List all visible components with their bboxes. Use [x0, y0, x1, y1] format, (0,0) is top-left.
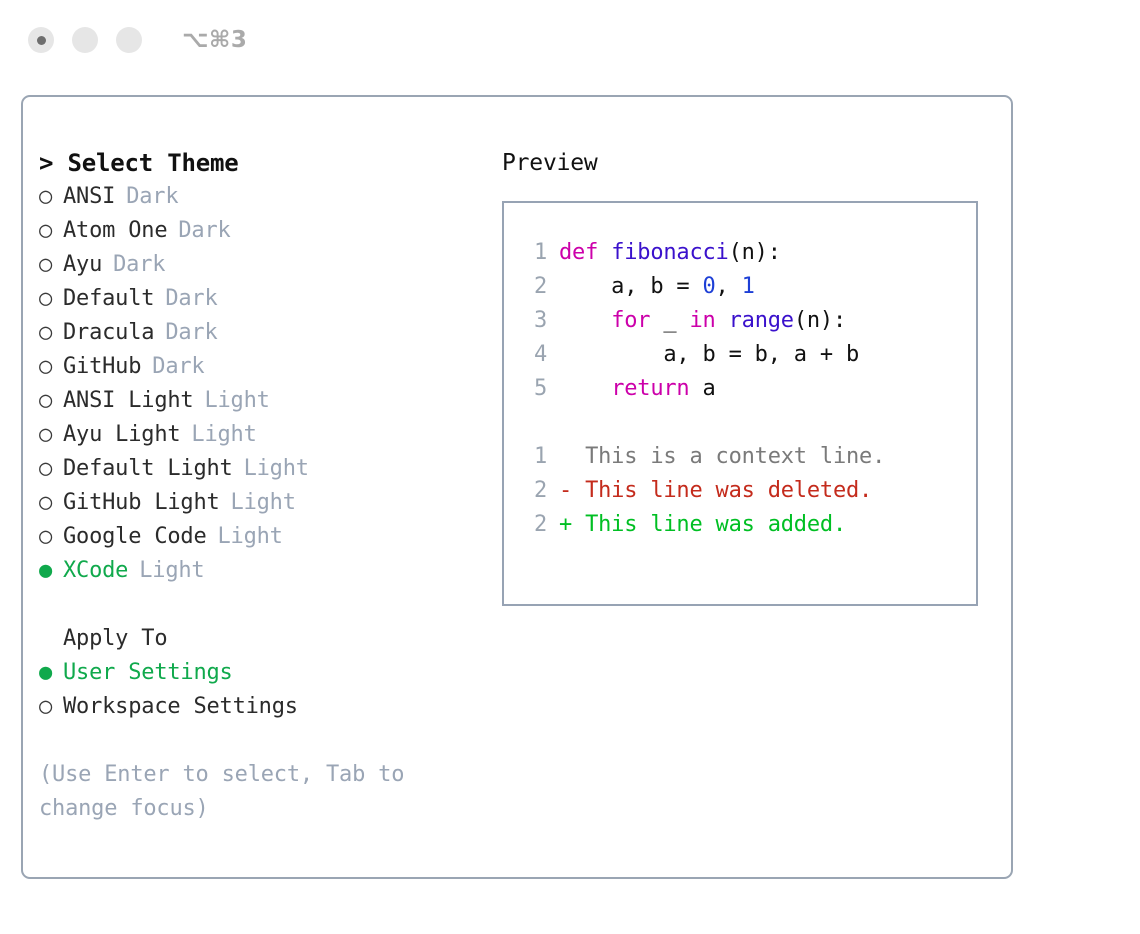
panel-columns: > Select Theme ○ANSIDark○Atom OneDark○Ay… [23, 97, 1011, 877]
diff-line-text: + This line was added. [559, 508, 846, 542]
code-line-text: a, b = b, a + b [559, 338, 859, 372]
code-token-kw: in [689, 308, 715, 333]
diff-line-number: 1 [517, 440, 547, 474]
radio-unselected-icon: ○ [39, 486, 63, 520]
theme-option-xcode[interactable]: ●XCodeLight [39, 554, 489, 588]
theme-option-label: GitHub [63, 350, 141, 384]
radio-unselected-icon: ○ [39, 282, 63, 316]
theme-option-tag: Dark [152, 350, 204, 384]
radio-unselected-icon: ○ [39, 690, 63, 724]
apply-to-option-user-settings[interactable]: ●User Settings [39, 656, 489, 690]
code-token-pun: (n): [794, 308, 846, 333]
preview-column: Preview 1def fibonacci(n):2 a, b = 0, 13… [502, 146, 982, 606]
theme-option-tag: Dark [126, 180, 178, 214]
preview-box: 1def fibonacci(n):2 a, b = 0, 13 for _ i… [502, 201, 978, 606]
theme-option-tag: Dark [165, 282, 217, 316]
code-line-text: return a [559, 372, 716, 406]
diff-line: 2- This line was deleted. [517, 474, 976, 508]
theme-option-github[interactable]: ○GitHubDark [39, 350, 489, 384]
theme-option-atom-one[interactable]: ○Atom OneDark [39, 214, 489, 248]
code-line-number: 5 [517, 372, 547, 406]
theme-option-ansi[interactable]: ○ANSIDark [39, 180, 489, 214]
radio-unselected-icon: ○ [39, 180, 63, 214]
diff-line-text: - This line was deleted. [559, 474, 872, 508]
code-line: 4 a, b = b, a + b [517, 338, 976, 372]
code-token-num: 0 [703, 274, 716, 299]
radio-unselected-icon: ○ [39, 350, 63, 384]
window-controls [28, 27, 142, 53]
keyboard-shortcut-label: ⌥⌘3 [182, 27, 247, 53]
window-dot-second-icon[interactable] [72, 27, 98, 53]
theme-option-ayu-light[interactable]: ○Ayu LightLight [39, 418, 489, 452]
apply-to-option-workspace-settings[interactable]: ○Workspace Settings [39, 690, 489, 724]
theme-option-tag: Dark [165, 316, 217, 350]
code-token-kw: return [611, 376, 689, 401]
code-token-pun: a, b = [559, 274, 703, 299]
theme-option-github-light[interactable]: ○GitHub LightLight [39, 486, 489, 520]
radio-selected-icon: ● [39, 656, 63, 690]
preview-spacer [517, 406, 976, 440]
theme-option-ansi-light[interactable]: ○ANSI LightLight [39, 384, 489, 418]
code-token-pun [716, 308, 729, 333]
theme-option-tag: Dark [113, 248, 165, 282]
diff-line-number: 2 [517, 508, 547, 542]
radio-unselected-icon: ○ [39, 384, 63, 418]
radio-unselected-icon: ○ [39, 418, 63, 452]
radio-unselected-icon: ○ [39, 316, 63, 350]
radio-unselected-icon: ○ [39, 214, 63, 248]
theme-option-default-light[interactable]: ○Default LightLight [39, 452, 489, 486]
diff-line: 2+ This line was added. [517, 508, 976, 542]
theme-option-label: Default Light [63, 452, 233, 486]
window-titlebar: ⌥⌘3 [0, 0, 1140, 80]
code-token-num: 1 [742, 274, 755, 299]
code-token-pun: (n): [729, 240, 781, 265]
code-line-text: def fibonacci(n): [559, 236, 781, 270]
code-token-pun [598, 240, 611, 265]
theme-option-tag: Light [218, 520, 283, 554]
code-token-pun [559, 376, 611, 401]
theme-picker-window: ⌥⌘3 > Select Theme ○ANSIDark○Atom OneDar… [0, 0, 1140, 934]
code-line-text: for _ in range(n): [559, 304, 846, 338]
theme-list: ○ANSIDark○Atom OneDark○AyuDark○DefaultDa… [39, 180, 489, 588]
code-line-text: a, b = 0, 1 [559, 270, 755, 304]
code-line: 1def fibonacci(n): [517, 236, 976, 270]
code-token-pun [559, 308, 611, 333]
theme-option-tag: Dark [178, 214, 230, 248]
code-token-fn: range [729, 308, 794, 333]
code-token-fn: fibonacci [611, 240, 728, 265]
code-token-kw: def [559, 240, 598, 265]
code-token-pun: _ [650, 308, 689, 333]
diff-line-text: This is a context line. [559, 440, 885, 474]
code-preview: 1def fibonacci(n):2 a, b = 0, 13 for _ i… [517, 236, 976, 406]
theme-option-label: XCode [63, 554, 128, 588]
theme-option-label: Ayu Light [63, 418, 180, 452]
diff-preview: 1 This is a context line.2- This line wa… [517, 440, 976, 542]
diff-line-number: 2 [517, 474, 547, 508]
theme-option-tag: Light [139, 554, 204, 588]
radio-unselected-icon: ○ [39, 248, 63, 282]
apply-to-list: ●User Settings○Workspace Settings [39, 656, 489, 724]
apply-to-option-label: Workspace Settings [63, 690, 298, 724]
code-line-number: 1 [517, 236, 547, 270]
theme-option-tag: Light [191, 418, 256, 452]
theme-selection-column: > Select Theme ○ANSIDark○Atom OneDark○Ay… [39, 146, 489, 826]
keyboard-hint: (Use Enter to select, Tab to change focu… [39, 758, 439, 826]
main-panel: > Select Theme ○ANSIDark○Atom OneDark○Ay… [21, 95, 1013, 879]
diff-line: 1 This is a context line. [517, 440, 976, 474]
theme-option-ayu[interactable]: ○AyuDark [39, 248, 489, 282]
apply-to-heading-label: Apply To [63, 622, 167, 656]
apply-to-heading: Apply To [39, 622, 489, 656]
theme-option-label: Dracula [63, 316, 154, 350]
theme-option-label: Google Code [63, 520, 207, 554]
window-dot-inner [37, 36, 46, 45]
code-line: 3 for _ in range(n): [517, 304, 976, 338]
radio-selected-icon: ● [39, 554, 63, 588]
theme-option-default[interactable]: ○DefaultDark [39, 282, 489, 316]
theme-option-tag: Light [204, 384, 269, 418]
code-line: 5 return a [517, 372, 976, 406]
theme-option-label: Default [63, 282, 154, 316]
code-line: 2 a, b = 0, 1 [517, 270, 976, 304]
window-dot-active-icon[interactable] [28, 27, 54, 53]
code-token-kw: for [611, 308, 650, 333]
theme-option-label: ANSI Light [63, 384, 193, 418]
code-line-number: 2 [517, 270, 547, 304]
theme-option-label: ANSI [63, 180, 115, 214]
preview-heading: Preview [502, 146, 982, 180]
code-token-pun: a, b = b, a + b [559, 342, 859, 367]
theme-option-dracula[interactable]: ○DraculaDark [39, 316, 489, 350]
window-dot-third-icon[interactable] [116, 27, 142, 53]
theme-option-label: Ayu [63, 248, 102, 282]
radio-unselected-icon: ○ [39, 520, 63, 554]
theme-option-label: GitHub Light [63, 486, 220, 520]
radio-unselected-icon: ○ [39, 452, 63, 486]
theme-option-label: Atom One [63, 214, 167, 248]
code-line-number: 3 [517, 304, 547, 338]
apply-to-option-label: User Settings [63, 656, 233, 690]
theme-option-google-code[interactable]: ○Google CodeLight [39, 520, 489, 554]
select-theme-heading: > Select Theme [39, 146, 489, 180]
theme-option-tag: Light [244, 452, 309, 486]
code-line-number: 4 [517, 338, 547, 372]
code-token-pun: , [716, 274, 742, 299]
code-token-pun: a [689, 376, 715, 401]
theme-option-tag: Light [231, 486, 296, 520]
